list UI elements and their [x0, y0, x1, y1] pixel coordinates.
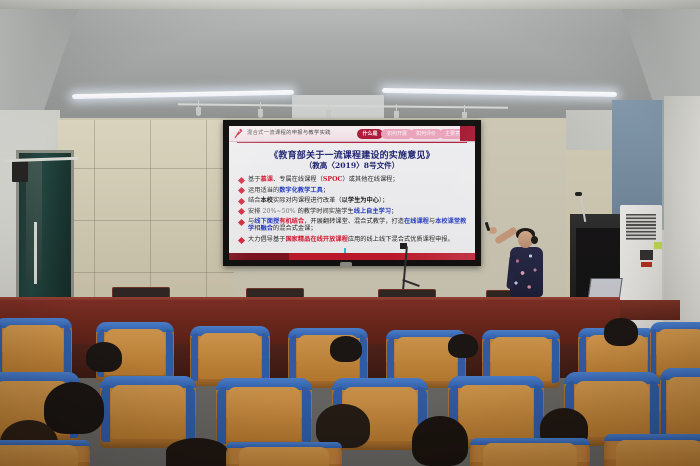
slide-bullet-5: 大力倡导基于国家精品在线开放课程应用的线上线下混合式优质课程申报。	[239, 236, 469, 243]
wall-speaker-icon	[12, 160, 28, 182]
slide-bullet-list: 基于慕课、专属在线课程（SPOC）或其他在线课程；运用适当的数字化教学工具；结合…	[239, 176, 469, 246]
projection-screen: 混合式一流课程的申报与教学实践 什么是 如何开展 如何评价 主要意义 《教育部关…	[229, 126, 475, 260]
slide-tab-0[interactable]: 什么是	[357, 129, 383, 139]
audience-seat[interactable]	[100, 376, 196, 448]
audience-head	[412, 416, 468, 466]
running-figure-logo-icon	[232, 128, 245, 140]
track-spot-light-icon	[258, 109, 263, 118]
diamond-bullet-icon	[238, 208, 245, 215]
wall-rail-vertical	[34, 222, 37, 284]
audience-head	[330, 336, 362, 362]
slide-banner: 混合式一流课程的申报与教学实践 什么是 如何开展 如何评价 主要意义	[229, 126, 475, 142]
audience-seat[interactable]	[216, 378, 312, 450]
ceiling-lip	[0, 0, 700, 9]
slide-bullet-text: 大力倡导基于国家精品在线开放课程应用的线上线下混合式优质课程申报。	[248, 236, 454, 243]
slide-bullet-1: 运用适当的数字化教学工具；	[239, 187, 469, 194]
audience-seat[interactable]	[0, 440, 90, 466]
slide-tab-1[interactable]: 如何开展	[381, 129, 413, 139]
audience-head	[86, 342, 122, 372]
presenter-hair-bun	[531, 236, 538, 244]
audience-seat[interactable]	[0, 318, 72, 380]
audience-seat[interactable]	[660, 368, 700, 444]
audience-head	[166, 438, 228, 466]
audience-head	[604, 318, 638, 346]
slide-banner-title: 混合式一流课程的申报与教学实践	[247, 129, 355, 136]
slide-bullet-0: 基于慕课、专属在线课程（SPOC）或其他在线课程；	[239, 176, 469, 183]
slide-bullet-text: 结合本校实际对内课程进行改革（以学生为中心）；	[248, 197, 388, 204]
slide-divider	[237, 142, 467, 143]
presenter-hand	[489, 227, 497, 234]
slide-title-line2: （教高〈2019〉8号文件）	[229, 160, 475, 171]
slide-bullet-text: 运用适当的数字化教学工具；	[248, 187, 329, 194]
slide-bullet-text: 与线下面授有机结合，开展翻转课堂、混合式教学，打造在线课程与本校课堂教学相融合的…	[248, 218, 469, 233]
diamond-bullet-icon	[238, 236, 245, 243]
audience-seat[interactable]	[226, 442, 342, 466]
slide-bullet-3: 安排 20%~50% 的教学时间实施学生线上自主学习；	[239, 208, 469, 215]
air-conditioner-display	[641, 262, 652, 267]
audience-seat[interactable]	[604, 434, 700, 466]
slide-bottom-band-dark	[229, 253, 289, 260]
lecture-hall-screenshot: 混合式一流课程的申报与教学实践 什么是 如何开展 如何评价 主要意义 《教育部关…	[0, 0, 700, 466]
slide-bullet-text: 安排 20%~50% 的教学时间实施学生线上自主学习；	[248, 208, 397, 215]
audience-head	[448, 334, 478, 358]
slide-bullet-4: 与线下面授有机结合，开展翻转课堂、混合式教学，打造在线课程与本校课堂教学相融合的…	[239, 218, 469, 233]
screen-ir-sensor	[340, 262, 352, 267]
diamond-bullet-icon	[238, 198, 245, 205]
microphone-icon	[575, 192, 582, 196]
banner-red-cap	[460, 126, 475, 141]
audience-seat[interactable]	[470, 438, 590, 466]
slide-tab-2[interactable]: 如何评价	[410, 129, 442, 139]
air-conditioner-panel[interactable]	[640, 250, 653, 260]
air-conditioner-grille	[626, 214, 656, 240]
air-conditioner-badge	[654, 242, 662, 249]
audience-seat[interactable]	[190, 326, 270, 386]
track-spot-light-icon	[196, 107, 201, 116]
diamond-bullet-icon	[238, 219, 245, 226]
diamond-bullet-icon	[238, 187, 245, 194]
slide-bullet-2: 结合本校实际对内课程进行改革（以学生为中心）；	[239, 197, 469, 204]
audience-head	[44, 382, 104, 434]
diamond-bullet-icon	[238, 177, 245, 184]
slide-bullet-text: 基于慕课、专属在线课程（SPOC）或其他在线课程；	[248, 176, 399, 183]
